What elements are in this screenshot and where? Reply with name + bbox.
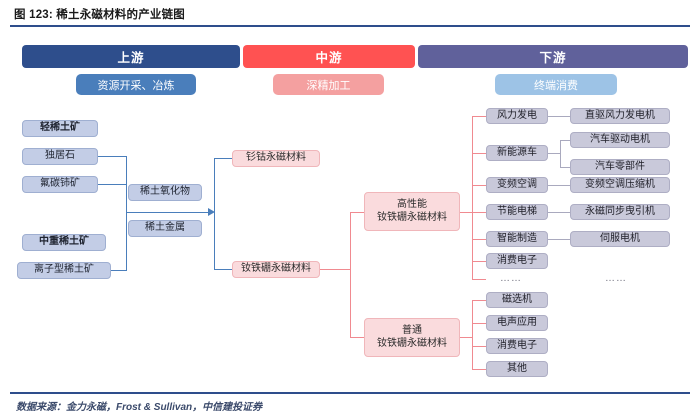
- node-inverter-air-conditioner: 变频空调: [486, 177, 548, 193]
- node-rare-earth-oxide: 稀土氧化物: [128, 184, 202, 201]
- connector-to-ordinary-grade: [350, 337, 364, 338]
- connector-upstream-trunk: [126, 156, 127, 271]
- connector-app-smart-manufacturing: [472, 239, 486, 240]
- stage-pill-upstream: 资源开采、冶炼: [76, 74, 196, 95]
- node-direct-drive-wind-generator: 直驱风力发电机: [570, 108, 670, 124]
- connector-hvac-product: [548, 185, 570, 186]
- connector-ion-ore: [111, 270, 126, 271]
- node-energy-saving-elevator: 节能电梯: [486, 204, 548, 220]
- node-other: 其他: [486, 361, 548, 377]
- connector-app-more: [472, 279, 486, 280]
- node-servo-motor: 伺服电机: [570, 231, 670, 247]
- connector-ordinary-bus: [472, 300, 473, 370]
- connector-to-ndfeb: [214, 269, 232, 270]
- figure-source: 数据来源：金力永磁，Frost & Sullivan，中信建投证券: [16, 398, 262, 413]
- connector-app-elevator: [472, 212, 486, 213]
- node-inverter-ac-compressor: 变频空调压缩机: [570, 177, 670, 193]
- node-bastnaesite: 氟碳铈矿: [22, 176, 98, 193]
- stage-pill-downstream: 终端消费: [495, 74, 617, 95]
- connector-bastnaesite: [98, 184, 126, 185]
- connector-ordinary-stem: [460, 337, 472, 338]
- footer-divider: [10, 392, 690, 394]
- node-vehicle-drive-motor: 汽车驱动电机: [570, 132, 670, 148]
- connector-to-smco: [214, 158, 232, 159]
- node-ion-adsorption-rare-earth-ore: 离子型稀土矿: [17, 262, 111, 279]
- node-ordinary-ndfeb-line2: 钕铁硼永磁材料: [377, 338, 447, 351]
- connector-ndfeb-stem: [320, 269, 350, 270]
- connector-high-grade-stem: [460, 212, 472, 213]
- connector-ordinary-consumer-electronics: [472, 346, 486, 347]
- connector-wind-product: [548, 116, 570, 117]
- figure-canvas: 图 123: 稀土永磁材料的产业链图 数据来源：金力永磁，Frost & Sul…: [0, 0, 700, 418]
- connector-app-hvac: [472, 185, 486, 186]
- node-medium-heavy-rare-earth-ore-title: 中重稀土矿: [22, 234, 106, 251]
- figure-title: 图 123: 稀土永磁材料的产业链图: [14, 6, 185, 22]
- node-ordinary-ndfeb-line1: 普通: [402, 325, 422, 338]
- node-ndfeb-magnet: 钕铁硼永磁材料: [232, 261, 320, 278]
- stage-bar-downstream: 下游: [418, 45, 688, 68]
- connector-high-grade-bus: [472, 116, 473, 279]
- connector-app-wind: [472, 116, 486, 117]
- node-high-performance-ndfeb: 高性能 钕铁硼永磁材料: [364, 192, 460, 231]
- connector-ordinary-other: [472, 369, 486, 370]
- node-high-performance-more-right: ……: [605, 273, 627, 284]
- node-vehicle-components: 汽车零部件: [570, 159, 670, 175]
- connector-to-high-grade: [350, 212, 364, 213]
- node-monazite: 独居石: [22, 148, 98, 165]
- connector-grade-split: [350, 212, 351, 337]
- node-consumer-electronics-hp: 消费电子: [486, 253, 548, 269]
- connector-nev-motor: [560, 140, 570, 141]
- stage-pill-midstream: 深精加工: [273, 74, 384, 95]
- stage-bar-upstream: 上游: [22, 45, 240, 68]
- connector-upstream-to-midstream: [126, 212, 210, 213]
- connector-monazite: [98, 156, 126, 157]
- connector-ordinary-acoustics: [472, 323, 486, 324]
- node-new-energy-vehicle: 新能源车: [486, 145, 548, 161]
- stage-bar-midstream: 中游: [243, 45, 415, 68]
- node-high-performance-ndfeb-line2: 钕铁硼永磁材料: [377, 212, 447, 225]
- title-divider: [10, 25, 690, 27]
- node-pm-synchronous-traction-machine: 永磁同步曳引机: [570, 204, 670, 220]
- connector-midstream-split: [214, 158, 215, 270]
- connector-elevator-product: [548, 212, 570, 213]
- connector-nev-split: [560, 140, 561, 167]
- connector-smart-manufacturing-product: [548, 239, 570, 240]
- connector-nev-stem: [548, 153, 560, 154]
- connector-app-consumer-electronics: [472, 261, 486, 262]
- node-ordinary-ndfeb: 普通 钕铁硼永磁材料: [364, 318, 460, 357]
- connector-nev-parts: [560, 167, 570, 168]
- node-high-performance-more-left: ……: [500, 273, 522, 284]
- connector-ordinary-magnetic-separator: [472, 300, 486, 301]
- node-wind-power: 风力发电: [486, 108, 548, 124]
- node-magnetic-separator: 磁选机: [486, 292, 548, 308]
- node-high-performance-ndfeb-line1: 高性能: [397, 199, 427, 212]
- node-rare-earth-metal: 稀土金属: [128, 220, 202, 237]
- connector-app-nev: [472, 153, 486, 154]
- node-light-rare-earth-ore-title: 轻稀土矿: [22, 120, 98, 137]
- node-smart-manufacturing: 智能制造: [486, 231, 548, 247]
- node-electroacoustic-application: 电声应用: [486, 315, 548, 331]
- node-consumer-electronics-ordinary: 消费电子: [486, 338, 548, 354]
- node-samarium-cobalt-magnet: 钐钴永磁材料: [232, 150, 320, 167]
